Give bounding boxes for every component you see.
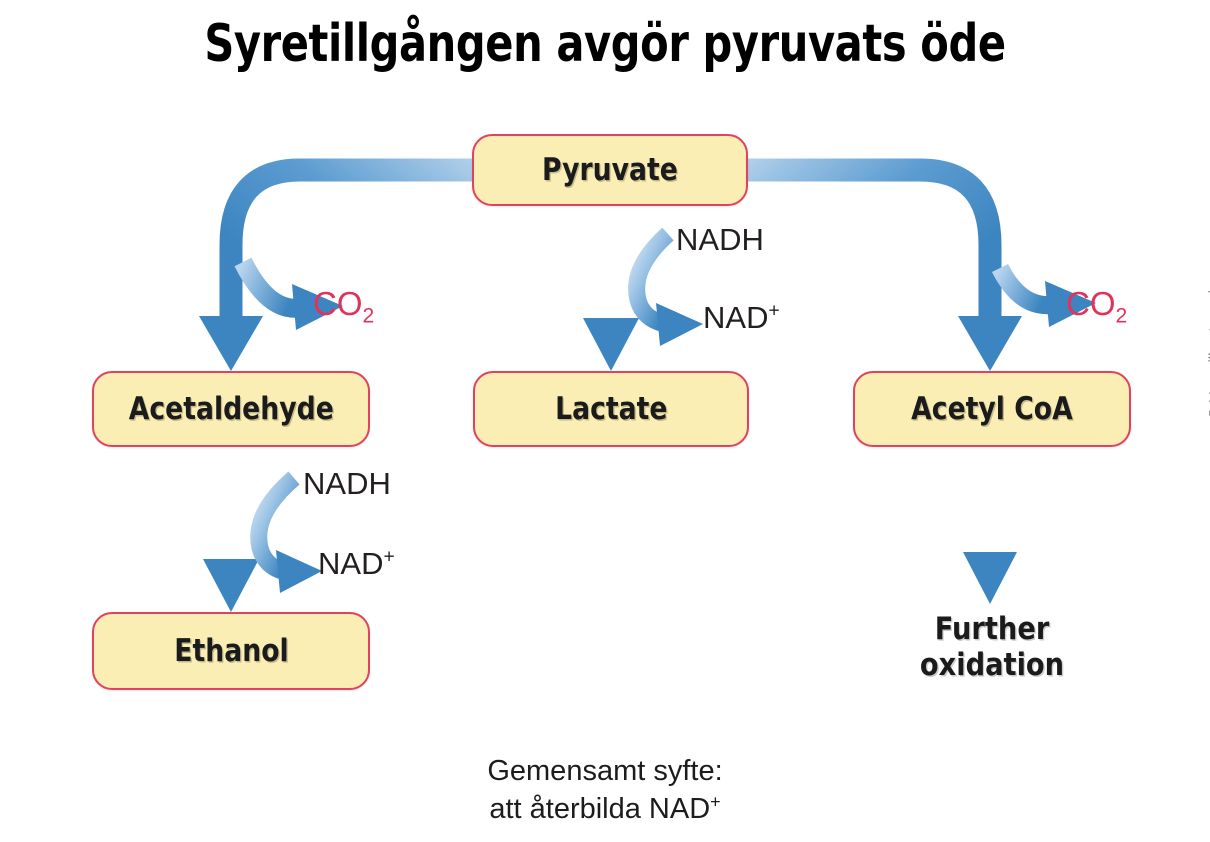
co2-left-subscript: 2	[363, 305, 375, 328]
nad-lactate-text: NAD	[703, 300, 768, 335]
nad-lactate-superscript: +	[768, 301, 779, 322]
label-co2-left: CO2	[313, 285, 374, 323]
co2-right-subscript: 2	[1116, 305, 1128, 328]
caption-nad-superscript: +	[710, 792, 721, 812]
node-pyruvate-label: Pyruvate	[542, 152, 678, 188]
nad-ethanol-superscript: +	[383, 547, 394, 568]
node-acetyl-coa-label: Acetyl CoA	[911, 391, 1073, 427]
node-pyruvate[interactable]: Pyruvate	[472, 134, 748, 206]
co2-right-text: CO	[1066, 285, 1116, 322]
node-ethanol[interactable]: Ethanol	[92, 612, 370, 690]
nad-ethanol-text: NAD	[318, 546, 383, 581]
node-further-oxidation: Further oxidation	[886, 612, 1097, 683]
node-acetyl-coa[interactable]: Acetyl CoA	[853, 371, 1131, 447]
caption-line-2-text: att återbilda NAD	[489, 793, 710, 825]
slide-canvas: Syretillgången avgör pyruvats öde	[0, 0, 1210, 842]
label-co2-right: CO2	[1066, 285, 1127, 323]
label-nadh-ethanol: NADH	[303, 466, 391, 502]
further-oxidation-line1: Further	[886, 612, 1097, 648]
caption-line-2: att återbilda NAD+	[0, 790, 1210, 828]
arrow-acetyl-coa-to-further-oxidation	[963, 450, 1017, 604]
bottom-caption: Gemensamt syfte: att återbilda NAD+	[0, 752, 1210, 829]
label-nad-plus-ethanol: NAD+	[318, 546, 395, 582]
caption-line-1: Gemensamt syfte:	[0, 752, 1210, 790]
copyright-credit: © Macmillan Learning	[1206, 273, 1210, 418]
node-acetaldehyde-label: Acetaldehyde	[128, 391, 333, 427]
node-acetaldehyde[interactable]: Acetaldehyde	[92, 371, 370, 447]
label-nadh-lactate: NADH	[676, 222, 764, 258]
co2-left-text: CO	[313, 285, 363, 322]
node-lactate[interactable]: Lactate	[473, 371, 749, 447]
further-oxidation-line2: oxidation	[886, 648, 1097, 684]
label-nad-plus-lactate: NAD+	[703, 300, 780, 336]
node-ethanol-label: Ethanol	[174, 633, 288, 669]
node-lactate-label: Lactate	[555, 391, 667, 427]
